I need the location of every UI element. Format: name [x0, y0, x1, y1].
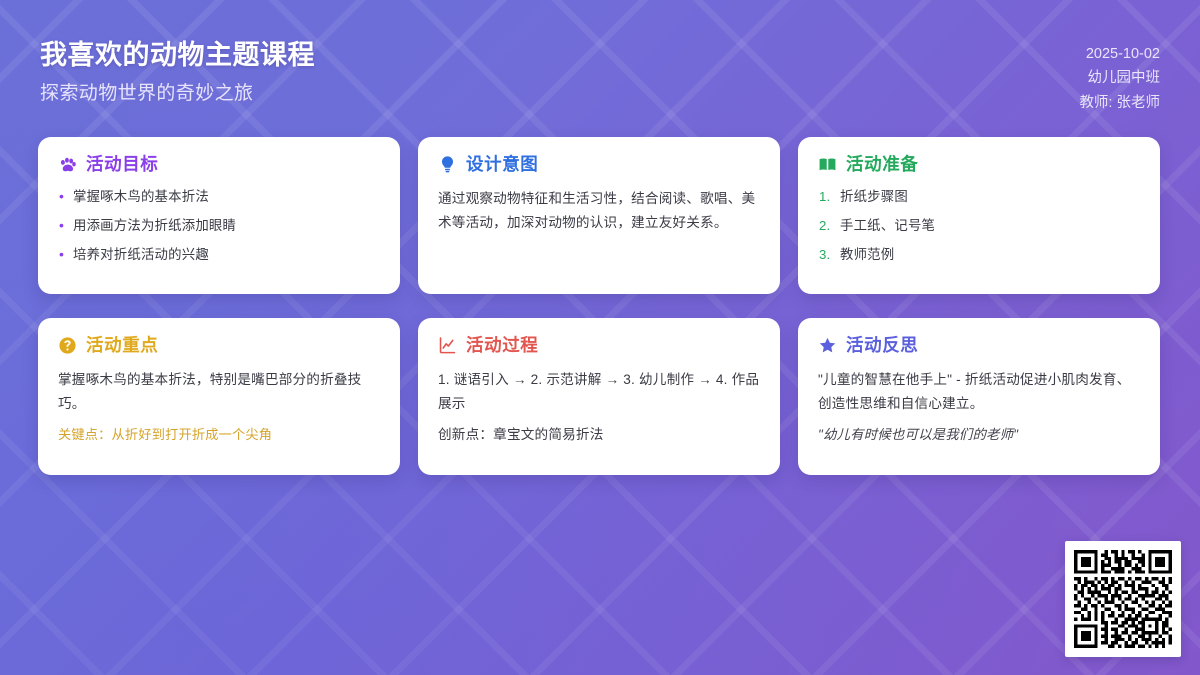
card-title: 活动准备	[846, 156, 918, 174]
process-innovation: 创新点：章宝文的简易折法	[438, 423, 760, 447]
process-steps: 1. 谜语引入 → 2. 示范讲解 → 3. 幼儿制作 → 4. 作品展示	[438, 368, 760, 416]
slide-root: 我喜欢的动物主题课程 探索动物世界的奇妙之旅 2025-10-02 幼儿园中班 …	[0, 0, 1200, 675]
slide-header: 我喜欢的动物主题课程 探索动物世界的奇妙之旅 2025-10-02 幼儿园中班 …	[0, 0, 1200, 115]
card-header: 活动重点	[58, 336, 380, 355]
card-design-intent[interactable]: 设计意图 通过观察动物特征和生活习性，结合阅读、歌唱、美术等活动，加深对动物的认…	[418, 137, 780, 294]
list-item: 培养对折纸活动的兴趣	[58, 245, 380, 266]
card-header: 活动目标	[58, 155, 380, 174]
card-preparation[interactable]: 活动准备 折纸步骤图 手工纸、记号笔 教师范例	[798, 137, 1160, 294]
card-objectives[interactable]: 活动目标 掌握啄木鸟的基本折法 用添画方法为折纸添加眼睛 培养对折纸活动的兴趣	[38, 137, 400, 294]
card-header: 活动准备	[818, 155, 1140, 174]
key-points-note: 关键点：从折好到打开折成一个尖角	[58, 425, 380, 445]
reflection-quote: "幼儿有时候也可以是我们的老师"	[818, 425, 1140, 446]
list-item: 折纸步骤图	[818, 187, 1140, 208]
header-meta: 2025-10-02 幼儿园中班 教师: 张老师	[1079, 38, 1160, 115]
star-icon	[818, 336, 837, 355]
question-circle-icon	[58, 336, 77, 355]
design-intent-text: 通过观察动物特征和生活习性，结合阅读、歌唱、美术等活动，加深对动物的认识，建立友…	[438, 187, 760, 235]
meta-date: 2025-10-02	[1079, 42, 1160, 66]
card-reflection[interactable]: 活动反思 "儿童的智慧在他手上" - 折纸活动促进小肌肉发育、创造性思维和自信心…	[798, 318, 1160, 475]
card-title: 活动目标	[86, 156, 158, 174]
card-header: 活动反思	[818, 336, 1140, 355]
lightbulb-icon	[438, 155, 457, 174]
meta-class: 幼儿园中班	[1079, 66, 1160, 90]
list-item: 手工纸、记号笔	[818, 216, 1140, 237]
card-title: 活动反思	[846, 337, 918, 355]
list-item: 用添画方法为折纸添加眼睛	[58, 216, 380, 237]
card-title: 设计意图	[466, 156, 538, 174]
qr-code[interactable]	[1065, 541, 1181, 657]
paw-print-icon	[58, 155, 77, 174]
preparation-list: 折纸步骤图 手工纸、记号笔 教师范例	[818, 187, 1140, 265]
list-item: 教师范例	[818, 245, 1140, 266]
card-key-points[interactable]: 活动重点 掌握啄木鸟的基本折法，特别是嘴巴部分的折叠技巧。 关键点：从折好到打开…	[38, 318, 400, 475]
open-book-icon	[818, 155, 837, 174]
card-grid: 活动目标 掌握啄木鸟的基本折法 用添画方法为折纸添加眼睛 培养对折纸活动的兴趣	[0, 115, 1200, 475]
key-points-text: 掌握啄木鸟的基本折法，特别是嘴巴部分的折叠技巧。	[58, 368, 380, 416]
card-title: 活动重点	[86, 337, 158, 355]
line-chart-icon	[438, 336, 457, 355]
list-item: 掌握啄木鸟的基本折法	[58, 187, 380, 208]
qr-code-image	[1074, 550, 1172, 648]
card-header: 设计意图	[438, 155, 760, 174]
card-title: 活动过程	[466, 337, 538, 355]
title-block: 我喜欢的动物主题课程 探索动物世界的奇妙之旅	[40, 38, 315, 106]
card-process[interactable]: 活动过程 1. 谜语引入 → 2. 示范讲解 → 3. 幼儿制作 → 4. 作品…	[418, 318, 780, 475]
card-header: 活动过程	[438, 336, 760, 355]
reflection-text: "儿童的智慧在他手上" - 折纸活动促进小肌肉发育、创造性思维和自信心建立。	[818, 368, 1140, 416]
objectives-list: 掌握啄木鸟的基本折法 用添画方法为折纸添加眼睛 培养对折纸活动的兴趣	[58, 187, 380, 265]
page-subtitle: 探索动物世界的奇妙之旅	[40, 82, 315, 107]
page-title: 我喜欢的动物主题课程	[40, 38, 315, 73]
meta-teacher: 教师: 张老师	[1079, 91, 1160, 115]
